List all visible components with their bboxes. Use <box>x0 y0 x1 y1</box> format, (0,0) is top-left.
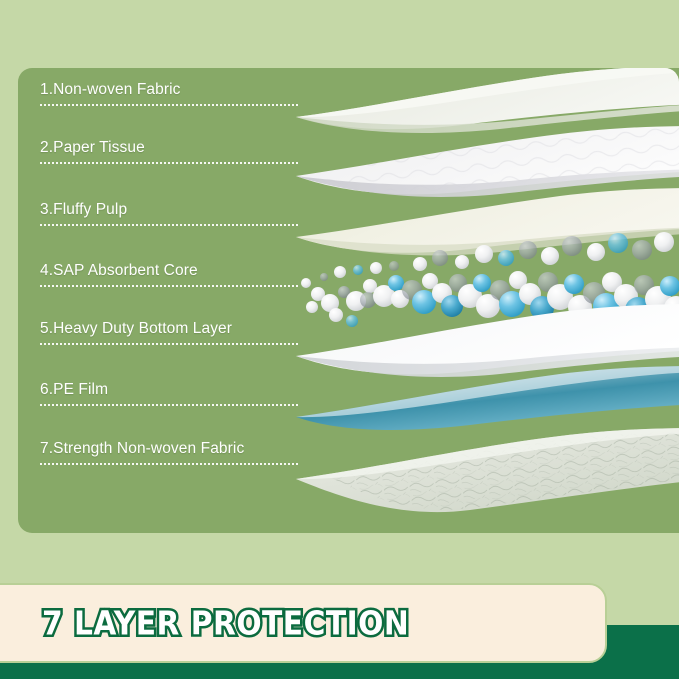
layer-leader-line-2 <box>40 162 298 164</box>
layer-label-3: 3.Fluffy Pulp <box>40 192 302 226</box>
layer-leader-line-4 <box>40 285 298 287</box>
layer-label-7-text: 7.Strength Non-woven Fabric <box>40 440 244 458</box>
layer-label-5-text: 5.Heavy Duty Bottom Layer <box>40 320 232 338</box>
layer-label-7: 7.Strength Non-woven Fabric <box>40 431 302 465</box>
layer-label-1-text: 1.Non-woven Fabric <box>40 81 181 99</box>
protection-banner: 7 LAYER PROTECTION <box>0 583 607 663</box>
layer-label-4-text: 4.SAP Absorbent Core <box>40 262 198 280</box>
layer-leader-line-5 <box>40 343 298 345</box>
banner-title: 7 LAYER PROTECTION <box>42 604 409 643</box>
layer-label-6-text: 6.PE Film <box>40 381 108 399</box>
layer-label-1: 1.Non-woven Fabric <box>40 72 302 106</box>
layer-leader-line-7 <box>40 463 298 465</box>
layer-leader-line-3 <box>40 224 298 226</box>
layer-label-6: 6.PE Film <box>40 372 302 406</box>
layer-label-2-text: 2.Paper Tissue <box>40 139 145 157</box>
layer-label-2: 2.Paper Tissue <box>40 130 302 164</box>
layer-label-3-text: 3.Fluffy Pulp <box>40 201 127 219</box>
layer-leader-line-6 <box>40 404 298 406</box>
layer-label-5: 5.Heavy Duty Bottom Layer <box>40 311 302 345</box>
layer-leader-line-1 <box>40 104 298 106</box>
layer-label-4: 4.SAP Absorbent Core <box>40 253 302 287</box>
product-infographic: 1.Non-woven Fabric 2.Paper Tissue 3.Fluf… <box>0 0 679 679</box>
